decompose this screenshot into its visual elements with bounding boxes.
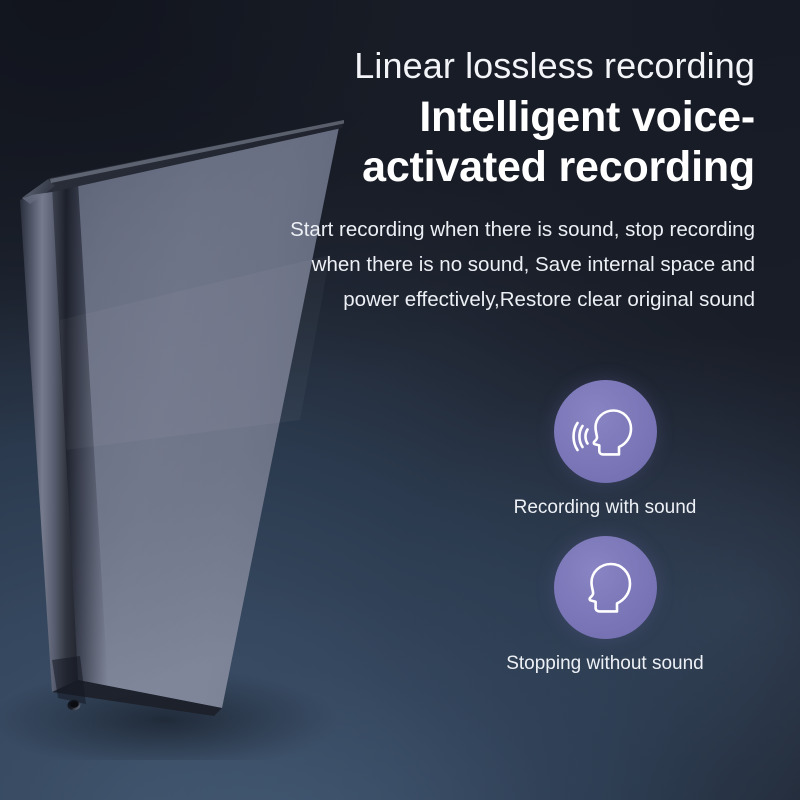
- headline-line-1: Intelligent voice-: [195, 92, 755, 142]
- feature-label-recording-with-sound: Recording with sound: [455, 495, 755, 521]
- head-silent-icon: [567, 550, 643, 626]
- feature-item-recording-with-sound: Recording with sound: [455, 380, 755, 521]
- head-speaking-icon: [567, 394, 643, 470]
- headline-block: Linear lossless recording Intelligent vo…: [195, 44, 755, 317]
- eyebrow-text: Linear lossless recording: [195, 44, 755, 88]
- description-line-2: when there is no sound, Save internal sp…: [195, 247, 755, 282]
- head-silent-badge: [554, 536, 657, 639]
- description-line-3: power effectively,Restore clear original…: [195, 282, 755, 317]
- head-speaking-badge: [554, 380, 657, 483]
- feature-item-stopping-without-sound: Stopping without sound: [455, 536, 755, 677]
- description-text: Start recording when there is sound, sto…: [195, 212, 755, 317]
- product-banner: Linear lossless recording Intelligent vo…: [0, 0, 800, 800]
- description-line-1: Start recording when there is sound, sto…: [195, 212, 755, 247]
- headline-line-2: activated recording: [195, 142, 755, 192]
- headline-text: Intelligent voice- activated recording: [195, 92, 755, 192]
- feature-label-stopping-without-sound: Stopping without sound: [455, 651, 755, 677]
- feature-list: Recording with sound Stopping without so…: [455, 380, 755, 692]
